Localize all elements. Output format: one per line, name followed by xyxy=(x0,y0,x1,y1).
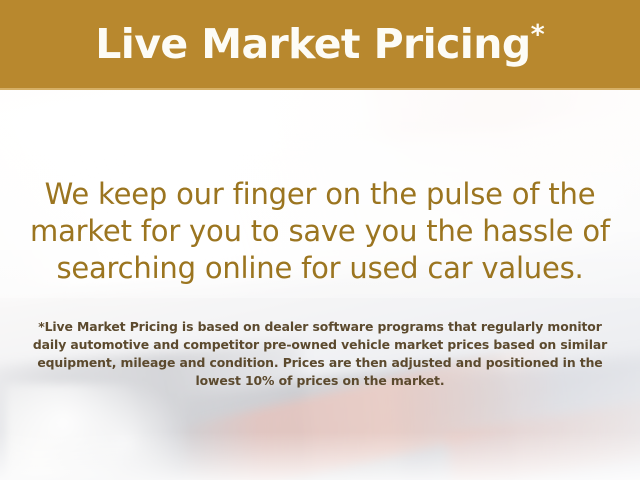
page-title-text: Live Market Pricing xyxy=(95,20,530,68)
disclaimer-line-3: equipment, mileage and condition. Prices… xyxy=(0,354,640,372)
live-market-pricing-slide: Live Market Pricing* We keep our finger … xyxy=(0,0,640,480)
headline-line-2: market for you to save you the hassle of xyxy=(0,213,640,250)
headline-line-3: searching online for used car values. xyxy=(0,250,640,287)
disclaimer-line-1: *Live Market Pricing is based on dealer … xyxy=(0,318,640,336)
disclaimer-block: *Live Market Pricing is based on dealer … xyxy=(0,318,640,390)
disclaimer-line-4: lowest 10% of prices on the market. xyxy=(0,372,640,390)
disclaimer-line-2: daily automotive and competitor pre-owne… xyxy=(0,336,640,354)
headline-line-1: We keep our finger on the pulse of the xyxy=(0,176,640,213)
headline-block: We keep our finger on the pulse of the m… xyxy=(0,176,640,287)
header-banner: Live Market Pricing* xyxy=(0,0,640,90)
page-title: Live Market Pricing* xyxy=(95,24,544,65)
page-title-asterisk: * xyxy=(531,19,545,50)
photo-white-veil-bottom xyxy=(0,432,640,480)
